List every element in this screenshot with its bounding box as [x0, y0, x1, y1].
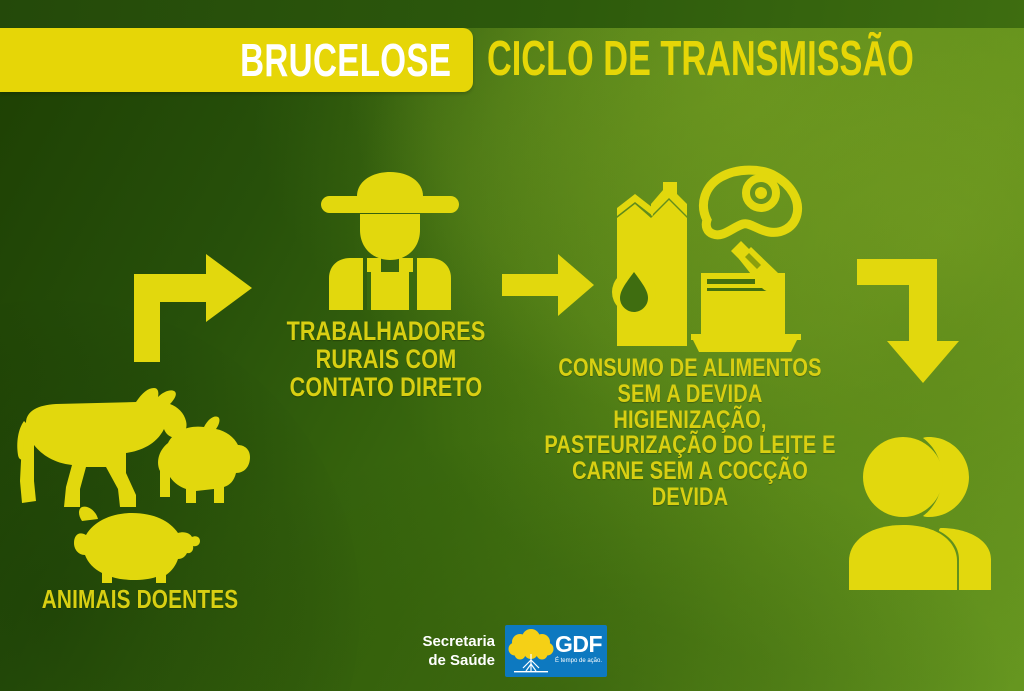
label-line: ANIMAIS DOENTES [28, 586, 252, 613]
label-line: SEM A DEVIDA HIGIENIZAÇÃO, [542, 382, 838, 434]
label-line: CONTATO DIRETO [277, 374, 495, 402]
secretaria-line-1: Secretaria [415, 632, 495, 651]
footer: Secretaria de Saúde [0, 615, 1024, 691]
label-line: RURAIS COM [277, 346, 495, 374]
page-title: BRUCELOSE [240, 31, 451, 89]
label-animais-doentes: ANIMAIS DOENTES [0, 586, 280, 613]
ipe-tree-icon [508, 626, 554, 676]
gdf-logo: GDF É tempo de ação. [505, 625, 607, 677]
farmer-icon [305, 168, 475, 318]
label-consumo-alimentos: CONSUMO DE ALIMENTOS SEM A DEVIDA HIGIEN… [505, 356, 875, 511]
gdf-tagline: É tempo de ação. [555, 657, 602, 665]
arrow-up-right-icon [128, 252, 258, 362]
header: BRUCELOSE CICLO DE TRANSMISSÃO [0, 28, 1024, 92]
page-subtitle: CICLO DE TRANSMISSÃO [487, 26, 914, 92]
top-strip [0, 0, 1024, 28]
gdf-wordmark: GDF [555, 633, 602, 656]
label-line: PASTEURIZAÇÃO DO LEITE E [542, 433, 838, 459]
label-line: TRABALHADORES [277, 318, 495, 346]
arrow-right-icon [500, 252, 596, 318]
brand-banner: BRUCELOSE [0, 28, 473, 92]
label-line: CONSUMO DE ALIMENTOS [542, 356, 838, 382]
infographic-poster: BRUCELOSE CICLO DE TRANSMISSÃO [0, 0, 1024, 691]
secretaria-de-saude-logo: Secretaria de Saúde [415, 632, 495, 670]
sick-animals-icon [8, 385, 288, 585]
label-line: CARNE SEM A COCÇÃO DEVIDA [542, 459, 838, 511]
food-icon [595, 160, 810, 355]
label-trabalhadores-rurais: TRABALHADORES RURAIS COM CONTATO DIRETO [250, 318, 522, 401]
secretaria-line-2: de Saúde [415, 651, 495, 670]
